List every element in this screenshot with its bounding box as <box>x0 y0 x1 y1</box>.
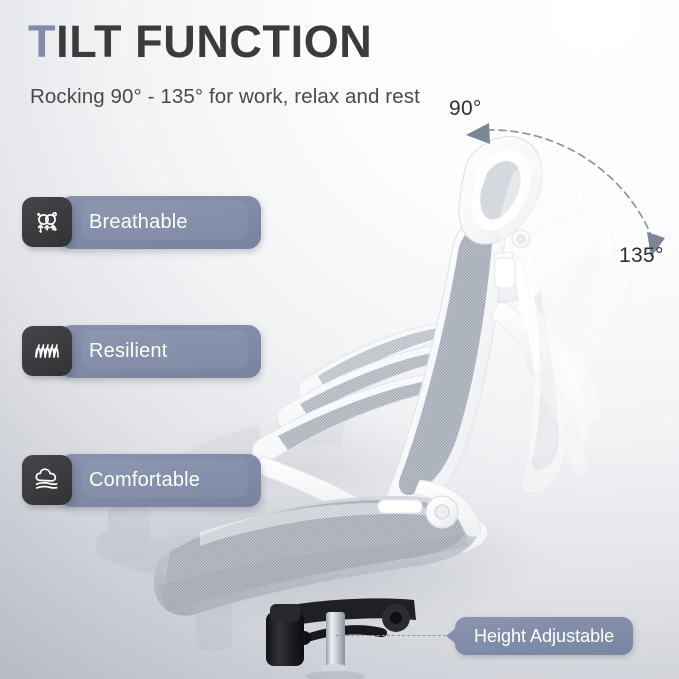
angle-start-label: 90° <box>449 97 482 121</box>
height-callout-label: Height Adjustable <box>474 626 614 647</box>
tilt-arc-annotation <box>0 0 679 679</box>
angle-end-label: 135° <box>619 244 664 268</box>
tilt-function-infographic: TILT FUNCTION Rocking 90° - 135° for wor… <box>0 0 679 679</box>
callout-tail-icon <box>446 628 456 644</box>
height-callout-leader-line <box>336 635 456 636</box>
height-adjustable-callout: Height Adjustable <box>455 617 633 655</box>
arc-arrow-start <box>466 123 490 144</box>
